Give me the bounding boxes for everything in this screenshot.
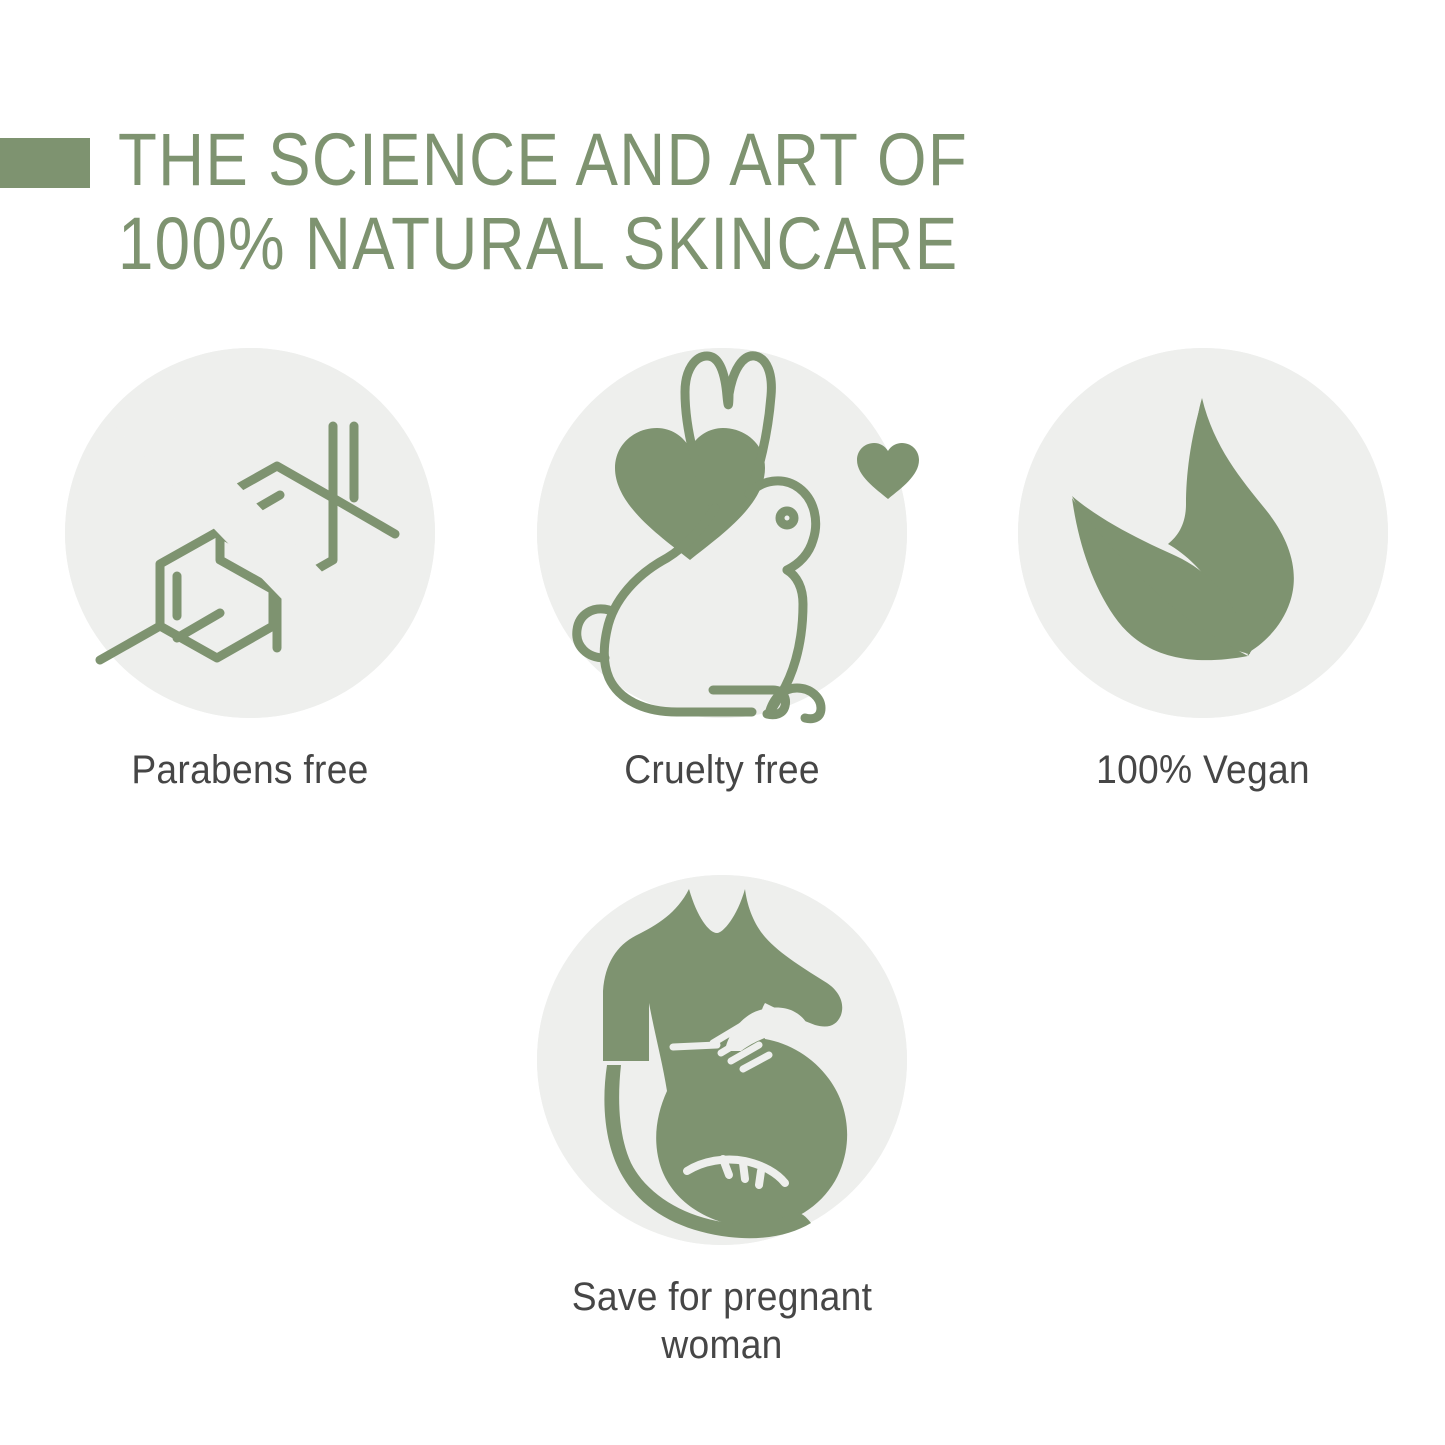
- page-title: THE SCIENCE AND ART OF 100% NATURAL SKIN…: [118, 118, 1064, 286]
- badge-circle: [1018, 348, 1388, 718]
- badge-label: Parabens free: [64, 746, 436, 794]
- badge-circle: [65, 348, 435, 718]
- badge-label: Cruelty free: [536, 746, 908, 794]
- two-leaves-icon: [1018, 348, 1388, 718]
- page-title-line-2: 100% NATURAL SKINCARE: [118, 202, 1064, 286]
- pregnant-woman-icon: [537, 875, 907, 1245]
- header: THE SCIENCE AND ART OF 100% NATURAL SKIN…: [0, 118, 1445, 308]
- badge-label: 100% Vegan: [1017, 746, 1389, 794]
- rabbit-with-hearts-icon: [537, 348, 907, 718]
- accent-bar: [0, 138, 90, 188]
- badge-safe-for-pregnant-woman: Save for pregnant woman: [522, 875, 922, 1369]
- badge-parabens-free: Parabens free: [50, 348, 450, 794]
- badge-vegan: 100% Vegan: [1003, 348, 1403, 794]
- page-title-line-1: THE SCIENCE AND ART OF: [118, 118, 1064, 202]
- badge-label-line-2: woman: [536, 1321, 908, 1369]
- badge-cruelty-free: Cruelty free: [522, 348, 922, 794]
- infographic-page: THE SCIENCE AND ART OF 100% NATURAL SKIN…: [0, 0, 1445, 1445]
- molecule-crossed-out-icon: [65, 348, 435, 718]
- badge-circle: [537, 348, 907, 718]
- badge-label: Save for pregnant woman: [536, 1273, 908, 1369]
- badge-label-line-1: Save for pregnant: [536, 1273, 908, 1321]
- badge-circle: [537, 875, 907, 1245]
